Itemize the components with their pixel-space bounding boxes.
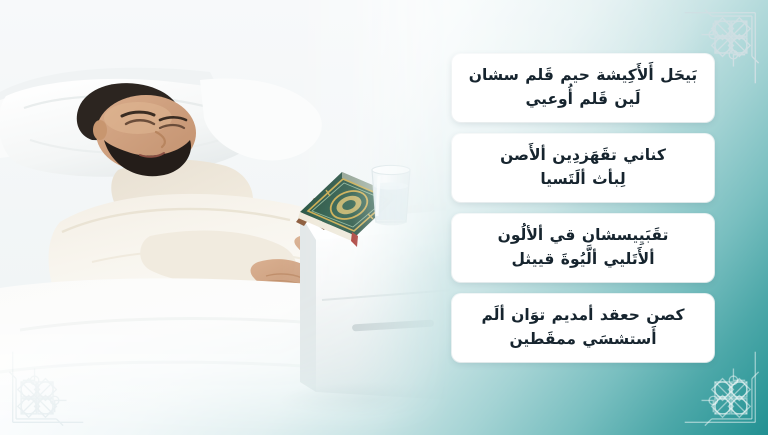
dua-card-2-text: كناني تقَهَزدِين ألأَصن لِبأث ألَتَسيا: [500, 144, 666, 191]
dua-card-3[interactable]: تقَبَيِيسشان قي ألألُون ألأَتَليي ألَّيُ…: [452, 214, 714, 282]
nightstand: [300, 202, 452, 400]
dua-card-2[interactable]: كناني تقَهَزدِين ألأَصن لِبأث ألَتَسيا: [452, 134, 714, 202]
dua-card-4-text: كصن حعقد أمديم توَان ألَم أَستشسَي ممقَط…: [481, 304, 684, 351]
dua-card-1-text: بَيحَل أَلأَكِيشة حيم قَلم سشان لَين قَل…: [469, 64, 697, 111]
dua-card-3-text: تقَبَيِيسشان قي ألألُون ألأَتَليي ألَّيُ…: [498, 224, 669, 271]
dua-card-1[interactable]: بَيحَل أَلأَكِيشة حيم قَلم سشان لَين قَل…: [452, 54, 714, 122]
water-glass: [372, 165, 410, 225]
dua-card-list: بَيحَل أَلأَكِيشة حيم قَلم سشان لَين قَل…: [452, 54, 714, 362]
bedside-photo: [0, 0, 452, 435]
slide-canvas: بَيحَل أَلأَكِيشة حيم قَلم سشان لَين قَل…: [0, 0, 768, 435]
dua-card-4[interactable]: كصن حعقد أمديم توَان ألَم أَستشسَي ممقَط…: [452, 294, 714, 362]
